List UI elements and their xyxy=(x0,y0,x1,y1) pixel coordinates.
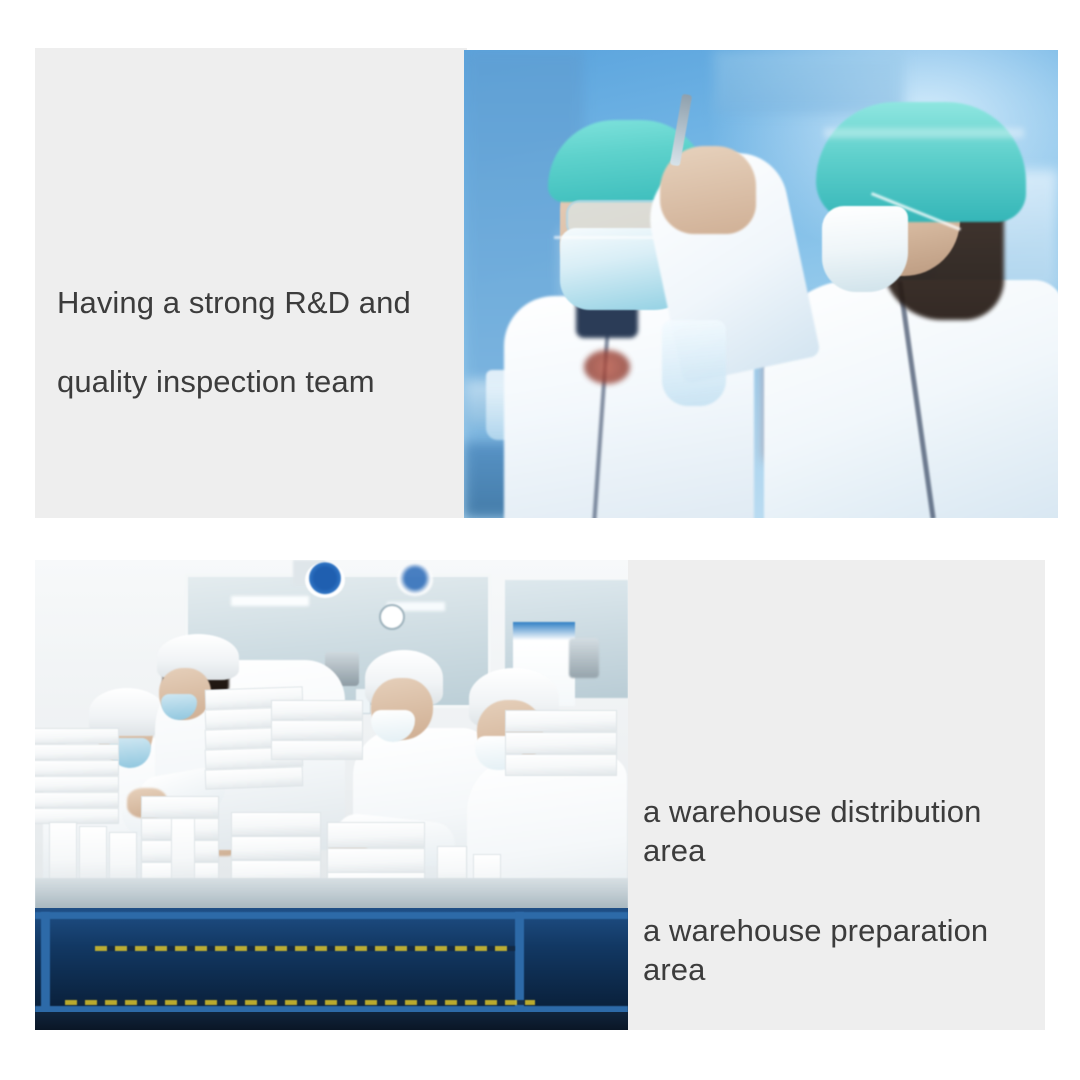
floor-marking-lower xyxy=(65,1000,535,1005)
carton xyxy=(505,754,617,776)
bottom-caption-line-1: a warehouse distribution area xyxy=(643,792,1043,871)
carton xyxy=(35,792,119,808)
carton xyxy=(35,808,119,824)
page-root: Having a strong R&D and quality inspecti… xyxy=(0,0,1080,1080)
bottom-caption-line-2: a warehouse preparation area xyxy=(643,911,1043,990)
technician-right-hairnet xyxy=(816,102,1026,222)
rd-quality-inspection-photo xyxy=(464,50,1058,518)
carton xyxy=(505,710,617,732)
warehouse-floor xyxy=(35,1012,628,1030)
carton xyxy=(35,776,119,792)
carton xyxy=(231,812,321,836)
carton xyxy=(205,766,304,789)
table-leg-left xyxy=(41,912,50,1016)
table-rail-top xyxy=(35,912,628,919)
lab-flask xyxy=(662,320,726,406)
blue-circular-sign-secondary-icon xyxy=(397,564,433,596)
carton xyxy=(271,740,363,760)
warehouse-distribution-photo xyxy=(35,560,628,1030)
top-caption-line-1: Having a strong R&D and xyxy=(57,283,457,323)
carton xyxy=(35,744,119,760)
carton xyxy=(35,760,119,776)
carton xyxy=(231,836,321,860)
carton xyxy=(271,700,363,720)
carton xyxy=(35,728,119,744)
carton xyxy=(327,848,425,874)
technician-right-face-mask xyxy=(822,206,908,292)
ceiling-light-1 xyxy=(231,596,309,606)
top-caption-line-2: quality inspection team xyxy=(57,362,457,402)
carton xyxy=(271,720,363,740)
carton xyxy=(505,732,617,754)
lab-sample-liquid xyxy=(584,350,630,384)
carton xyxy=(141,796,219,818)
bottom-caption-text: a warehouse distribution area a warehous… xyxy=(643,752,1043,1030)
floor-marking-upper xyxy=(95,946,515,951)
steel-container-3 xyxy=(569,638,599,678)
wall-clock-icon xyxy=(379,604,405,630)
blue-circular-sign-icon xyxy=(305,562,345,598)
top-caption-text: Having a strong R&D and quality inspecti… xyxy=(57,243,457,441)
carton xyxy=(327,822,425,848)
